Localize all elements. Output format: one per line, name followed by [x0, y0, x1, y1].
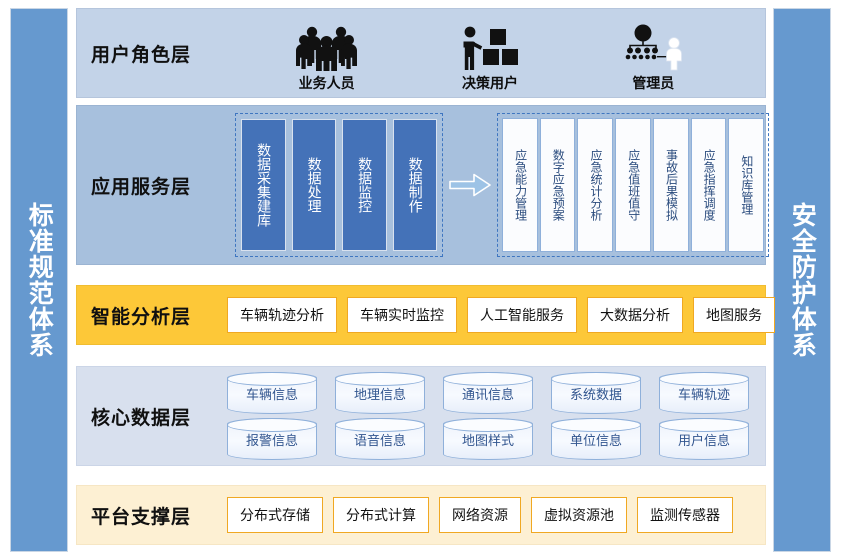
- data-store-label: 系统数据: [570, 384, 622, 403]
- data-store-label: 用户信息: [678, 430, 730, 449]
- left-pillar-standards: 标准规范体系: [10, 8, 68, 552]
- people-group-icon: [295, 21, 359, 71]
- layer-intelligent-analysis: 智能分析层 车辆轨迹分析 车辆实时监控 人工智能服务 大数据分析 地图服务: [76, 285, 766, 345]
- left-pillar-label: 标准规范体系: [24, 202, 55, 358]
- analysis-service-chip[interactable]: 车辆轨迹分析: [227, 297, 337, 333]
- platform-resource-chip[interactable]: 分布式存储: [227, 497, 323, 533]
- platform-resource-label: 虚拟资源池: [544, 505, 614, 525]
- data-store-label: 车辆信息: [246, 384, 298, 403]
- app-module-box[interactable]: 数据制作: [393, 119, 438, 251]
- app-module-box[interactable]: 应急统计分析: [577, 118, 613, 252]
- app-module-label: 应急值班值守: [626, 149, 639, 221]
- data-store-label: 地图样式: [462, 430, 514, 449]
- data-store-label: 报警信息: [246, 430, 298, 449]
- layer-platform-support: 平台支撑层 分布式存储 分布式计算 网络资源 虚拟资源池 监测传感器: [76, 485, 766, 545]
- app-module-label: 数据制作: [407, 157, 423, 213]
- org-chart-person-icon: [621, 21, 685, 71]
- data-module-group: 数据采集建库 数据处理 数据监控 数据制作: [235, 113, 443, 257]
- app-module-label: 数字应急预案: [551, 149, 564, 221]
- app-module-label: 知识库管理: [739, 155, 752, 215]
- platform-resource-label: 分布式计算: [346, 505, 416, 525]
- data-store-cylinder[interactable]: 报警信息: [227, 418, 317, 460]
- app-module-label: 数据处理: [306, 157, 322, 213]
- architecture-diagram: 标准规范体系 安全防护体系 用户角色层: [0, 0, 841, 560]
- data-store-label: 语音信息: [354, 430, 406, 449]
- data-store-cylinder[interactable]: 地图样式: [443, 418, 533, 460]
- data-store-cylinder[interactable]: 单位信息: [551, 418, 641, 460]
- role-label: 业务人员: [299, 73, 355, 93]
- right-arrow-icon: [449, 172, 491, 198]
- data-store-cylinder[interactable]: 通讯信息: [443, 372, 533, 414]
- data-store-cylinder[interactable]: 用户信息: [659, 418, 749, 460]
- platform-resource-chip[interactable]: 虚拟资源池: [531, 497, 627, 533]
- data-store-cylinder[interactable]: 车辆信息: [227, 372, 317, 414]
- app-module-label: 应急能力管理: [513, 149, 526, 221]
- platform-resource-chip[interactable]: 分布式计算: [333, 497, 429, 533]
- platform-resource-label: 网络资源: [452, 505, 508, 525]
- layer-user-role-title: 用户角色层: [77, 40, 235, 67]
- app-module-box[interactable]: 事故后果模拟: [653, 118, 689, 252]
- platform-resource-chip[interactable]: 网络资源: [439, 497, 521, 533]
- right-pillar-security: 安全防护体系: [773, 8, 831, 552]
- app-module-box[interactable]: 应急值班值守: [615, 118, 651, 252]
- data-store-cylinder[interactable]: 地理信息: [335, 372, 425, 414]
- layer-core-data: 核心数据层 车辆信息 地理信息 通讯信息 系统数据 车辆轨迹 报警信息 语音信息…: [76, 366, 766, 466]
- layer-app-service: 应用服务层 数据采集建库 数据处理 数据监控 数据制作 应急能力管理 数字应急预…: [76, 105, 766, 265]
- right-pillar-label: 安全防护体系: [787, 202, 818, 358]
- analysis-service-label: 人工智能服务: [480, 305, 564, 325]
- analysis-service-chip[interactable]: 车辆实时监控: [347, 297, 457, 333]
- analysis-service-chip[interactable]: 人工智能服务: [467, 297, 577, 333]
- data-store-label: 地理信息: [354, 384, 406, 403]
- role-administrator[interactable]: 管理员: [578, 21, 728, 93]
- platform-resource-chip[interactable]: 监测传感器: [637, 497, 733, 533]
- app-module-box[interactable]: 数据监控: [342, 119, 387, 251]
- user-role-list: 业务人员 决策用户: [235, 9, 765, 97]
- data-store-cylinder[interactable]: 车辆轨迹: [659, 372, 749, 414]
- platform-resource-label: 分布式存储: [240, 505, 310, 525]
- layer-app-service-title: 应用服务层: [77, 172, 235, 199]
- app-module-box[interactable]: 应急指挥调度: [691, 118, 727, 252]
- app-module-box[interactable]: 数据采集建库: [241, 119, 286, 251]
- data-store-cylinder[interactable]: 系统数据: [551, 372, 641, 414]
- layer-intelligent-analysis-title: 智能分析层: [77, 302, 227, 329]
- app-module-label: 应急指挥调度: [702, 149, 715, 221]
- layer-core-data-title: 核心数据层: [77, 403, 227, 430]
- app-module-box[interactable]: 数据处理: [292, 119, 337, 251]
- app-service-body: 数据采集建库 数据处理 数据监控 数据制作 应急能力管理 数字应急预案 应急统计…: [235, 106, 775, 264]
- role-label: 管理员: [632, 73, 674, 93]
- analysis-service-label: 车辆轨迹分析: [240, 305, 324, 325]
- layer-user-role: 用户角色层: [76, 8, 766, 98]
- app-module-label: 事故后果模拟: [664, 149, 677, 221]
- platform-resource-list: 分布式存储 分布式计算 网络资源 虚拟资源池 监测传感器: [227, 497, 765, 533]
- core-data-store-list: 车辆信息 地理信息 通讯信息 系统数据 车辆轨迹 报警信息 语音信息 地图样式 …: [227, 368, 765, 464]
- person-with-blocks-icon: [459, 21, 521, 71]
- analysis-service-label: 地图服务: [706, 305, 762, 325]
- analysis-service-label: 车辆实时监控: [360, 305, 444, 325]
- data-store-label: 车辆轨迹: [678, 384, 730, 403]
- role-decision-user[interactable]: 决策用户: [415, 21, 565, 93]
- analysis-service-chip[interactable]: 大数据分析: [587, 297, 683, 333]
- app-module-box[interactable]: 应急能力管理: [502, 118, 538, 252]
- emergency-module-group: 应急能力管理 数字应急预案 应急统计分析 应急值班值守 事故后果模拟 应急指挥调…: [497, 113, 769, 257]
- layer-platform-support-title: 平台支撑层: [77, 502, 227, 529]
- data-store-cylinder[interactable]: 语音信息: [335, 418, 425, 460]
- role-business-staff[interactable]: 业务人员: [252, 21, 402, 93]
- role-label: 决策用户: [462, 73, 518, 93]
- app-module-box[interactable]: 数字应急预案: [540, 118, 576, 252]
- arrow-container: [443, 172, 497, 198]
- app-module-label: 数据采集建库: [255, 143, 271, 227]
- analysis-service-list: 车辆轨迹分析 车辆实时监控 人工智能服务 大数据分析 地图服务: [227, 297, 765, 333]
- app-module-label: 应急统计分析: [589, 149, 602, 221]
- app-module-box[interactable]: 知识库管理: [728, 118, 764, 252]
- analysis-service-label: 大数据分析: [600, 305, 670, 325]
- app-module-label: 数据监控: [356, 157, 372, 213]
- data-store-label: 单位信息: [570, 430, 622, 449]
- platform-resource-label: 监测传感器: [650, 505, 720, 525]
- data-store-label: 通讯信息: [462, 384, 514, 403]
- analysis-service-chip[interactable]: 地图服务: [693, 297, 775, 333]
